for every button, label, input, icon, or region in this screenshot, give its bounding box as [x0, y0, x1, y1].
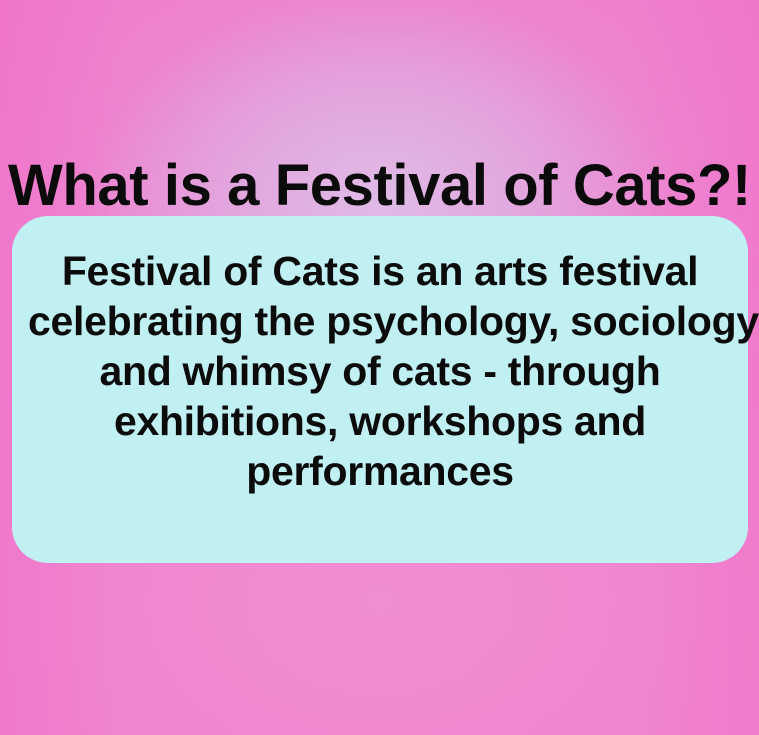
description-line: and whimsy of cats - through [28, 346, 732, 396]
page-title: What is a Festival of Cats?! [0, 155, 759, 217]
description-line: exhibitions, workshops and [28, 396, 732, 446]
description-card: Festival of Cats is an arts festival cel… [12, 216, 748, 563]
description-line: celebrating the psychology, sociology [28, 296, 732, 346]
description-line: Festival of Cats is an arts festival [28, 246, 732, 296]
description-line: performances [28, 446, 732, 496]
poster-canvas: What is a Festival of Cats?! Festival of… [0, 0, 759, 735]
description-text: Festival of Cats is an arts festival cel… [12, 216, 748, 496]
